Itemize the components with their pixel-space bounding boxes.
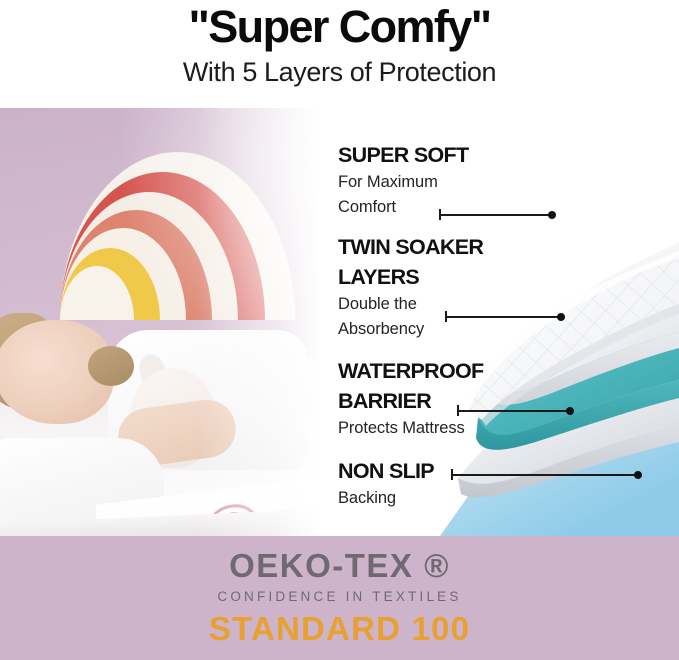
feature-title-line2: LAYERS	[338, 262, 553, 292]
oeko-tex-standard: STANDARD 100	[0, 608, 679, 650]
feature-twin-soaker: TWIN SOAKER LAYERS Double the Absorbency	[338, 232, 553, 342]
feature-labels: SUPER SOFT For Maximum Comfort TWIN SOAK…	[330, 108, 679, 536]
feature-title: SUPER SOFT	[338, 140, 553, 170]
features-panel: SUPER SOFT For Maximum Comfort TWIN SOAK…	[330, 108, 679, 536]
feature-title: TWIN SOAKER	[338, 232, 553, 262]
feature-subtitle-line1: Protects Mattress	[338, 416, 553, 441]
oeko-tex-tagline: CONFIDENCE IN TEXTILES	[0, 586, 679, 608]
feature-title-line2: BARRIER	[338, 386, 553, 416]
feature-title: NON SLIP	[338, 456, 553, 486]
feature-waterproof: WATERPROOF BARRIER Protects Mattress	[338, 356, 553, 441]
feature-subtitle-line1: Double the	[338, 292, 553, 317]
certification-footer: OEKO-TEX ® CONFIDENCE IN TEXTILES STANDA…	[0, 536, 679, 660]
product-infographic: "Super Comfy" With 5 Layers of Protectio…	[0, 0, 679, 660]
feature-subtitle-line1: Backing	[338, 486, 553, 511]
child-hair-back	[88, 346, 134, 386]
page-subtitle: With 5 Layers of Protection	[0, 56, 679, 88]
feature-non-slip: NON SLIP Backing	[338, 456, 553, 511]
lifestyle-photo	[0, 108, 330, 536]
feature-subtitle-line2: Comfort	[338, 195, 553, 220]
page-title: "Super Comfy"	[0, 2, 679, 52]
oeko-tex-brand: OEKO-TEX ®	[0, 546, 679, 586]
header: "Super Comfy" With 5 Layers of Protectio…	[0, 0, 679, 108]
feature-subtitle-line1: For Maximum	[338, 170, 553, 195]
feature-subtitle-line2: Absorbency	[338, 317, 553, 342]
feature-title: WATERPROOF	[338, 356, 553, 386]
rainbow-cushion	[60, 150, 295, 320]
feature-super-soft: SUPER SOFT For Maximum Comfort	[338, 140, 553, 220]
oeko-tex-badge: OEKO-TEX ® CONFIDENCE IN TEXTILES STANDA…	[0, 546, 679, 650]
